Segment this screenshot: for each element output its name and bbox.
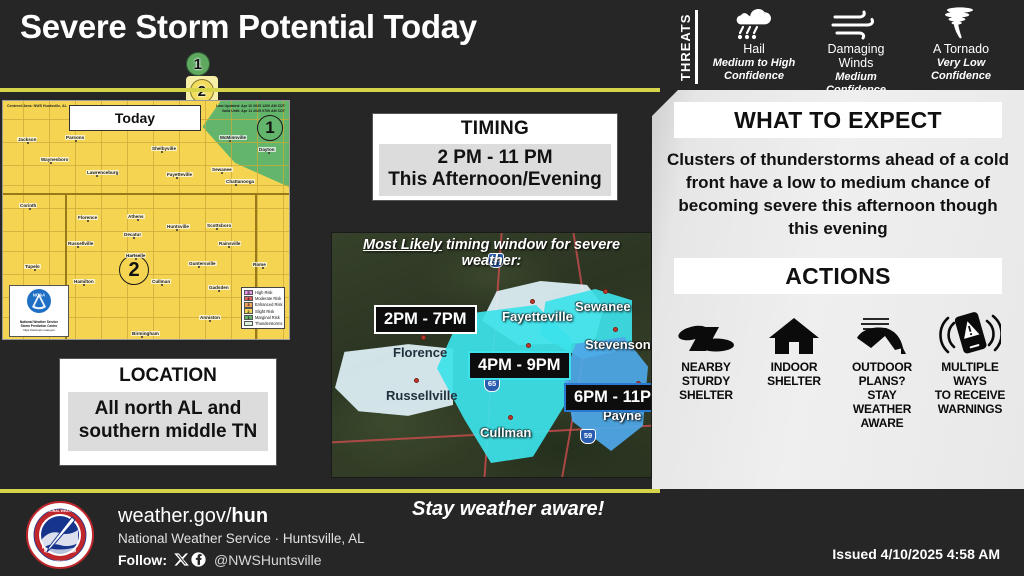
spc-legend-row: 1Marginal Risk <box>244 314 283 320</box>
spc-city-dot <box>176 177 178 179</box>
spc-city-label: Waynesboro <box>40 157 69 162</box>
threat-hail: Hail Medium to High Confidence <box>704 6 804 82</box>
action-nearby-sturdy-shelter: NEARBY STURDY SHELTER <box>662 304 750 430</box>
county-line-v <box>127 101 128 339</box>
county-line-v <box>153 101 154 339</box>
tw-city-label: Sewanee <box>575 299 631 314</box>
spc-legend-label: Enhanced Risk <box>255 302 283 307</box>
spc-legend-label: Moderate Risk <box>255 296 281 301</box>
footer-social-handle[interactable]: @NWSHuntsville <box>214 552 322 568</box>
county-line-v <box>179 101 180 339</box>
footer-url-plain: weather.gov/ <box>118 505 231 527</box>
spc-city-dot <box>75 140 77 142</box>
spc-city-dot <box>176 229 178 231</box>
spc-city-dot <box>262 267 264 269</box>
timing-window-map[interactable]: 65 65 59 Most Likely timing window for s… <box>331 232 652 478</box>
location-body: All north AL and southern middle TN <box>68 392 268 451</box>
timing-line2: This Afternoon/Evening <box>379 169 611 191</box>
footer-url-bold: hun <box>231 505 268 527</box>
spc-city-dot <box>268 152 270 154</box>
spc-city-dot <box>87 220 89 222</box>
spc-city-dot <box>221 172 223 174</box>
spc-badge-slight: 2 <box>119 255 149 285</box>
map-valid-times: Last Updated: Apr 10 2025 1200 AM CDT Va… <box>216 104 285 114</box>
spc-city-dot <box>133 237 135 239</box>
spc-city-label: Hartselle <box>125 253 146 258</box>
what-to-expect-heading: WHAT TO EXPECT <box>674 102 1002 138</box>
spc-legend-swatch <box>244 321 253 326</box>
footer-website[interactable]: weather.gov/hun <box>118 505 268 528</box>
county-line-h <box>3 165 289 166</box>
threat-damaging-winds: Damaging Winds Medium Confidence <box>806 6 906 96</box>
timing-label-east: 6PM - 11PM <box>564 383 652 412</box>
tw-city-dot <box>421 335 426 340</box>
tw-city-dot <box>530 299 535 304</box>
spc-legend-label: Thunderstorms <box>255 321 283 326</box>
spc-legend-swatch: 1 <box>244 315 253 320</box>
spc-city-dot <box>229 140 231 142</box>
tw-city-dot <box>414 378 419 383</box>
spc-city-label: Parsons <box>65 135 85 140</box>
action-3-line1: MULTIPLE WAYS <box>926 360 1014 388</box>
tw-city-dot <box>508 415 513 420</box>
spc-city-label: Florence <box>77 215 98 220</box>
timing-window-title-emphasis: Most Likely <box>363 237 442 253</box>
spc-city-label: Jackson <box>17 137 37 142</box>
action-3-line3: WARNINGS <box>926 402 1014 416</box>
phone-alert-icon <box>926 304 1014 356</box>
spc-legend-swatch: 3 <box>244 302 253 307</box>
today-label-box: Today <box>69 105 201 131</box>
timing-window-title-rest: timing window for severe weather: <box>442 237 620 269</box>
action-0-line2: STURDY <box>662 374 750 388</box>
location-line1: All north AL and <box>68 397 268 420</box>
spc-city-dot <box>137 219 139 221</box>
spc-city-dot <box>161 151 163 153</box>
spc-legend-swatch: 5 <box>244 290 253 295</box>
noaa-url: https://www.spc.noaa.gov <box>10 328 68 332</box>
action-3-line2: TO RECEIVE <box>926 388 1014 402</box>
spc-city-label: Rainsville <box>218 241 241 246</box>
highway-shield-59: 59 <box>580 429 596 444</box>
action-0-line1: NEARBY <box>662 360 750 374</box>
issued-timestamp: Issued 4/10/2025 4:58 AM <box>832 546 1000 562</box>
house-icon <box>750 304 838 356</box>
tw-city-label: Florence <box>393 345 447 360</box>
spc-legend-label: Slight Risk <box>255 309 274 314</box>
svg-text:★ SERVICE ★: ★ SERVICE ★ <box>48 560 72 564</box>
threat-hail-conf-2: Confidence <box>704 70 804 82</box>
spc-city-label: Russellville <box>67 241 94 246</box>
county-line-h <box>3 251 289 252</box>
spc-risk-legend: 5High Risk4Moderate Risk3Enhanced Risk2S… <box>241 287 285 329</box>
county-line-h <box>3 231 289 232</box>
spc-city-label: Fayetteville <box>166 172 193 177</box>
action-indoor-shelter: INDOOR SHELTER <box>750 304 838 430</box>
county-line-v <box>205 101 206 339</box>
timing-label-central: 4PM - 9PM <box>468 351 571 380</box>
spc-city-label: Scottsboro <box>206 223 232 228</box>
tw-city-label: Russellville <box>386 388 458 403</box>
county-line-h <box>3 185 289 186</box>
spc-city-label: Sewanee <box>211 167 233 172</box>
page-title: Severe Storm Potential Today <box>20 8 477 46</box>
spc-city-dot <box>83 284 85 286</box>
wind-lines-icon <box>806 6 906 42</box>
spc-city-label: Athens <box>127 214 145 219</box>
tw-city-dot <box>526 343 531 348</box>
spc-city-dot <box>34 269 36 271</box>
threat-tornado-conf-1: Very Low <box>911 57 1011 69</box>
sturdy-shelter-icon <box>662 304 750 356</box>
facebook-icon[interactable] <box>190 551 207 568</box>
threat-wind-name-2: Winds <box>806 57 906 70</box>
threat-hail-name: Hail <box>704 43 804 56</box>
tw-city-dot <box>613 327 618 332</box>
timing-heading: TIMING <box>373 114 617 140</box>
what-to-expect-body: Clusters of thunderstorms ahead of a col… <box>666 148 1010 240</box>
threat-tornado-name: A Tornado <box>911 43 1011 56</box>
location-box: LOCATION All north AL and southern middl… <box>59 358 277 466</box>
threats-heading: THREATS <box>676 10 698 84</box>
spc-city-dot <box>96 175 98 177</box>
spc-badge-marginal: 1 <box>257 115 283 141</box>
timing-box: TIMING 2 PM - 11 PM This Afternoon/Eveni… <box>372 113 618 201</box>
x-twitter-icon[interactable] <box>173 551 190 568</box>
spc-legend-row: Thunderstorms <box>244 320 283 326</box>
location-line2: southern middle TN <box>68 420 268 443</box>
noaa-spc-logo: NOAA National Weather Service Storm Pred… <box>9 285 69 337</box>
right-info-panel: WHAT TO EXPECT Clusters of thunderstorms… <box>652 90 1024 520</box>
spc-legend-swatch: 4 <box>244 296 253 301</box>
spc-city-dot <box>50 162 52 164</box>
spc-city-label: McMinnville <box>219 135 247 140</box>
spc-city-dot <box>27 142 29 144</box>
timing-body: 2 PM - 11 PM This Afternoon/Evening <box>379 144 611 196</box>
spc-city-label: Guntersville <box>188 261 217 266</box>
spc-city-label: Shelbyville <box>151 146 177 151</box>
spc-city-dot <box>218 290 220 292</box>
header-accent-rule <box>0 88 660 92</box>
spc-city-label: Decatur <box>123 232 142 237</box>
spc-city-label: Huntsville <box>166 224 190 229</box>
threat-wind-name-1: Damaging <box>806 43 906 56</box>
actions-heading: ACTIONS <box>674 258 1002 294</box>
spc-city-dot <box>216 228 218 230</box>
spc-legend-swatch: 2 <box>244 308 253 313</box>
action-outdoor-plans: OUTDOOR PLANS? STAY WEATHER AWARE <box>838 304 926 430</box>
spc-city-label: Cullman <box>151 279 171 284</box>
spc-city-label: Gadsden <box>208 285 230 290</box>
tw-city-label: Stevenson <box>585 337 651 352</box>
map-valid-until: Valid Until: Apr 11 2025 0700 AM CDT <box>216 109 285 114</box>
threat-tornado: A Tornado Very Low Confidence <box>911 6 1011 82</box>
spc-city-dot <box>77 246 79 248</box>
action-0-line3: SHELTER <box>662 388 750 402</box>
tent-icon <box>838 304 926 356</box>
spc-city-label: Rome <box>252 262 267 267</box>
nws-seal-logo: NATIONAL WEATHER ★ SERVICE ★ <box>26 501 94 569</box>
spc-outlook-map[interactable]: Centered Area: NWS Huntsville, AL Last U… <box>2 100 290 340</box>
action-multiple-ways-warnings: MULTIPLE WAYS TO RECEIVE WARNINGS <box>926 304 1014 430</box>
action-2-line1: OUTDOOR PLANS? <box>838 360 926 388</box>
county-line-h <box>3 142 289 143</box>
tw-city-dot <box>603 289 608 294</box>
tw-city-label: Cullman <box>480 425 531 440</box>
timing-label-west: 2PM - 7PM <box>374 305 477 334</box>
timing-line1: 2 PM - 11 PM <box>379 147 611 169</box>
location-heading: LOCATION <box>60 359 276 387</box>
spc-legend-row: 3Enhanced Risk <box>244 302 283 308</box>
spc-city-label: Hamilton <box>73 279 95 284</box>
action-1-line1: INDOOR <box>750 360 838 374</box>
footer-follow-row: Follow: @NWSHuntsville <box>118 551 322 568</box>
risk-dot-marginal: 1 <box>186 52 210 76</box>
spc-city-label: Corinth <box>19 203 37 208</box>
state-border-tn-al <box>3 193 289 195</box>
spc-legend-label: Marginal Risk <box>255 315 280 320</box>
risk-dot-marginal-value: 1 <box>194 56 202 73</box>
svg-text:NATIONAL WEATHER: NATIONAL WEATHER <box>42 509 78 513</box>
county-line-h <box>3 208 289 209</box>
svg-text:NOAA: NOAA <box>33 293 45 298</box>
spc-city-dot <box>235 184 237 186</box>
spc-city-dot <box>135 258 137 260</box>
spc-city-label: Dayton <box>258 147 276 152</box>
spc-city-dot <box>161 284 163 286</box>
action-2-line2: STAY WEATHER <box>838 388 926 416</box>
action-1-line2: SHELTER <box>750 374 838 388</box>
footer-office-name: National Weather Service · Huntsville, A… <box>118 531 365 546</box>
spc-legend-label: High Risk <box>255 290 273 295</box>
spc-city-dot <box>141 336 143 338</box>
spc-city-dot <box>209 320 211 322</box>
spc-city-label: Birmingham <box>131 331 160 336</box>
hail-cloud-icon <box>704 6 804 42</box>
threat-wind-conf-1: Medium <box>806 71 906 83</box>
actions-row: NEARBY STURDY SHELTER INDOOR SHELTER <box>652 304 1024 430</box>
action-2-line3: AWARE <box>838 416 926 430</box>
spc-city-label: Anniston <box>199 315 221 320</box>
tornado-icon <box>911 6 1011 42</box>
tw-city-label: Fayetteville <box>502 309 573 324</box>
county-line-v <box>101 101 102 339</box>
threat-tornado-conf-2: Confidence <box>911 70 1011 82</box>
spc-city-dot <box>228 246 230 248</box>
threats-section: THREATS Hail Medium to High Confidence <box>676 4 1024 88</box>
spc-city-label: Lawrenceburg <box>86 170 119 175</box>
spc-legend-row: 4Moderate Risk <box>244 296 283 302</box>
stay-weather-aware-tagline: Stay weather aware! <box>412 498 604 521</box>
footer-follow-label: Follow: <box>118 552 167 568</box>
spc-city-label: Chattanooga <box>225 179 255 184</box>
spc-city-label: Tupelo <box>24 264 41 269</box>
spc-city-dot <box>198 266 200 268</box>
footer-accent-rule <box>0 489 660 493</box>
spc-city-dot <box>29 208 31 210</box>
timing-window-title: Most Likely timing window for severe wea… <box>332 237 651 269</box>
threat-hail-conf-1: Medium to High <box>704 57 804 69</box>
map-credit: Centered Area: NWS Huntsville, AL <box>7 104 67 108</box>
